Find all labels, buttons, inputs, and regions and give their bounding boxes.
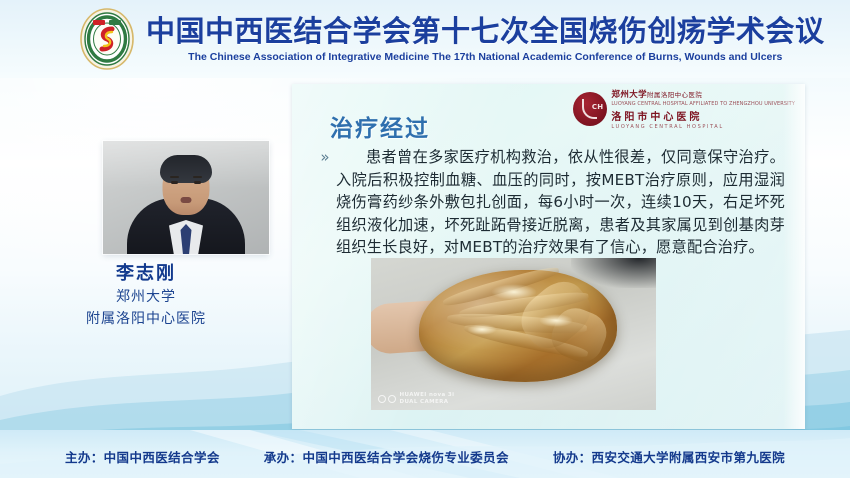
speaker-org-line2: 附属洛阳中心医院 — [0, 308, 292, 330]
slide-edge-fade — [783, 84, 805, 429]
conference-title-cn: 中国中西医结合学会第十七次全国烧伤创疡学术会议 — [146, 14, 825, 48]
footer-item-coorganizer: 协办：西安交通大学附属西安市第九医院 — [553, 447, 785, 466]
hospital-name-en-2: LUOYANG CENTRAL HOSPITAL — [611, 124, 795, 130]
hospital-name-en-1: LUOYANG CENTRAL HOSPITAL AFFILIATED TO Z… — [611, 101, 795, 107]
photo-watermark: HUAWEI nova 3i DUAL CAMERA — [378, 392, 454, 405]
hospital-university: 郑州大学 — [611, 90, 647, 100]
speaker-brow-left — [170, 176, 179, 178]
footer-item-host: 主办：中国中西医结合学会 — [65, 447, 220, 466]
speaker-eye-left — [171, 181, 178, 184]
speaker-name: 李志刚 — [0, 262, 292, 286]
watermark-brand: HUAWEI nova 3i — [400, 392, 455, 399]
conference-footer: 主办：中国中西医结合学会 承办：中国中西医结合学会烧伤专业委员会 协办：西安交通… — [0, 430, 850, 478]
slide-title: 治疗经过 — [330, 109, 430, 143]
hospital-logo: CH 郑州大学附属洛阳中心医院 LUOYANG CENTRAL HOSPITAL… — [573, 88, 795, 130]
slide-body-text: 患者曾在多家医疗机构救治，依从性很差，仅同意保守治疗。入院后积极控制血糖、血压的… — [336, 146, 785, 259]
speaker-org-line1: 郑州大学 — [0, 286, 292, 308]
hospital-mark-letters: CH — [592, 103, 604, 111]
hospital-name-cn-2: 洛阳市中心医院 — [611, 108, 795, 123]
conference-header: 中国中西医结合学会第十七次全国烧伤创疡学术会议 The Chinese Asso… — [0, 0, 850, 78]
footer-item-organizer: 承办：中国中西医结合学会烧伤专业委员会 — [264, 447, 509, 466]
bullet-marker-icon: » — [314, 146, 336, 259]
slide-bullet: » 患者曾在多家医疗机构救治，依从性很差，仅同意保守治疗。入院后积极控制血糖、血… — [314, 146, 785, 259]
hospital-mark-icon: CH — [573, 92, 607, 126]
speaker-mouth — [181, 197, 192, 203]
slide-panel[interactable]: CH 郑州大学附属洛阳中心医院 LUOYANG CENTRAL HOSPITAL… — [292, 84, 805, 429]
speaker-video[interactable] — [103, 141, 269, 254]
clinical-wound-photo[interactable]: HUAWEI nova 3i DUAL CAMERA — [371, 258, 656, 410]
presentation-screen: 中国中西医结合学会第十七次全国烧伤创疡学术会议 The Chinese Asso… — [0, 0, 850, 478]
conference-title-en: The Chinese Association of Integrative M… — [188, 50, 782, 64]
hospital-affiliate: 附属洛阳中心医院 — [647, 91, 702, 99]
dual-camera-lens-icon — [378, 395, 396, 403]
watermark-sub: DUAL CAMERA — [400, 399, 455, 406]
hospital-name-cn-1: 郑州大学附属洛阳中心医院 — [611, 88, 795, 100]
speaker-hair — [160, 155, 212, 183]
speaker-eye-right — [194, 181, 201, 184]
speaker-caption: 李志刚 郑州大学 附属洛阳中心医院 — [0, 262, 292, 330]
cross-association-emblem-icon — [78, 8, 136, 70]
speaker-brow-right — [193, 176, 202, 178]
